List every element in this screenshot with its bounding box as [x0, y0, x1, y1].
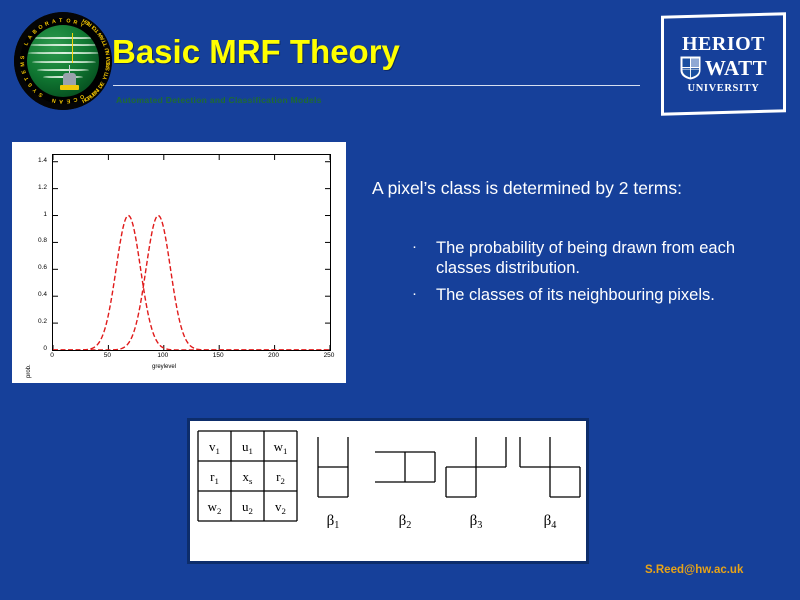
logo-ring-letter: R: [72, 19, 78, 26]
clique-diagram-graphics: v1u1w1r1xsr2w2u2v2β1β2β3β4: [190, 421, 586, 561]
logo-ring-letter: L: [23, 41, 30, 47]
title-divider: [113, 85, 640, 86]
logo-ring-letter: S: [20, 56, 26, 60]
clique-label: β1: [327, 513, 340, 531]
logo-ring-letter: N: [51, 97, 56, 104]
lead-statement: A pixel’s class is determined by 2 terms…: [372, 178, 782, 200]
chart-y-tick-label: 0.6: [21, 264, 47, 271]
logo-ring-letter: O: [66, 18, 71, 24]
chart-y-tick-label: 0.4: [21, 291, 47, 298]
logo-ring-letter: N: [105, 51, 112, 56]
list-item-label: The classes of its neighbouring pixels.: [436, 285, 790, 305]
slide-canvas: OCEAN SYSTEMS LABORATORYHERIOT-WATT UNIV…: [0, 0, 800, 600]
neighbourhood-clique-diagram: v1u1w1r1xsr2w2u2v2β1β2β3β4: [187, 418, 589, 564]
chart-y-tick-label: 1.2: [21, 184, 47, 191]
chart-x-tick-label: 250: [317, 352, 341, 359]
logo-ring-text: OCEAN SYSTEMS LABORATORYHERIOT-WATT UNIV…: [14, 12, 112, 110]
list-item: ·The probability of being drawn from eac…: [412, 238, 790, 278]
contact-email: S.Reed@hw.ac.uk: [645, 564, 743, 576]
chart-y-tick-label: 0.8: [21, 237, 47, 244]
logo-ring-letter: S: [38, 91, 44, 98]
logo-ring-letter: A: [51, 19, 56, 26]
chart-curves: [53, 155, 330, 350]
chart-x-axis-label: greylevel: [152, 364, 176, 370]
chart-x-tick-label: 200: [262, 352, 286, 359]
logo-ring-letter: Y: [32, 87, 39, 94]
grid-cell-label: u2: [242, 499, 253, 516]
grid-cell-label: xs: [243, 469, 254, 486]
chart-x-tick-label: 0: [40, 352, 64, 359]
grid-cell-label: r2: [276, 469, 285, 486]
ocean-systems-laboratory-logo: OCEAN SYSTEMS LABORATORYHERIOT-WATT UNIV…: [14, 12, 112, 110]
logo-ring-letter: M: [20, 62, 26, 67]
page-subtitle: Automated Detection and Classification M…: [116, 95, 322, 105]
logo-ring-letter: O: [38, 24, 45, 31]
logo-ring-letter: R: [44, 21, 50, 28]
logo-ring-letter: [21, 50, 27, 53]
grid-cell-label: v2: [275, 499, 286, 516]
bullet-marker-icon: ·: [412, 285, 436, 303]
clique-label: β2: [399, 513, 412, 531]
logo-ring-letter: S: [27, 81, 34, 87]
list-item-label: The probability of being drawn from each…: [436, 238, 790, 278]
grid-cell-label: r1: [210, 469, 219, 486]
logo-ring-letter: T: [24, 76, 31, 82]
chart-y-tick-label: 1: [21, 211, 47, 218]
clique-label: β4: [544, 513, 557, 531]
chart-series-curve: [53, 216, 330, 350]
bullet-marker-icon: ·: [412, 238, 436, 256]
hw-logo-heriot: HERIOT: [682, 34, 765, 54]
logo-ring-letter: A: [59, 98, 63, 104]
chart-series-curve: [53, 216, 330, 350]
logo-ring-letter: E: [21, 69, 28, 74]
chart-y-tick-label: 0.2: [21, 318, 47, 325]
chart-x-tick-label: 50: [95, 352, 119, 359]
chart-y-tick-label: 0: [21, 345, 47, 352]
chart-plot-area: [52, 154, 331, 351]
grid-cell-label: u1: [242, 439, 253, 456]
logo-ring-letter: E: [66, 97, 70, 103]
chart-x-tick-label: 100: [151, 352, 175, 359]
grid-cell-label: v1: [209, 439, 220, 456]
list-item: ·The classes of its neighbouring pixels.: [412, 285, 790, 305]
grid-cell-label: w1: [274, 439, 288, 456]
logo-ring-letter: B: [32, 29, 39, 36]
heriot-watt-university-logo: HERIOT WATT UNIVERSITY: [661, 12, 786, 115]
bullet-list: ·The probability of being drawn from eac…: [412, 238, 790, 312]
shield-icon: [680, 56, 701, 80]
page-title: Basic MRF Theory: [112, 33, 400, 71]
logo-ring-letter: [46, 95, 50, 101]
hw-logo-watt: WATT: [705, 58, 767, 79]
logo-ring-letter: C: [72, 96, 78, 103]
chart-y-tick-label: 1.4: [21, 157, 47, 164]
grid-cell-label: w2: [208, 499, 222, 516]
logo-ring-letter: T: [59, 18, 63, 24]
clique-label: β3: [470, 513, 483, 531]
probability-distribution-chart: prob. 00.20.40.60.811.21.4 0501001502002…: [12, 142, 346, 383]
hw-logo-university: UNIVERSITY: [688, 83, 760, 94]
chart-y-axis-label: prob.: [26, 364, 32, 378]
logo-ring-letter: A: [27, 34, 34, 41]
chart-x-tick-label: 150: [206, 352, 230, 359]
